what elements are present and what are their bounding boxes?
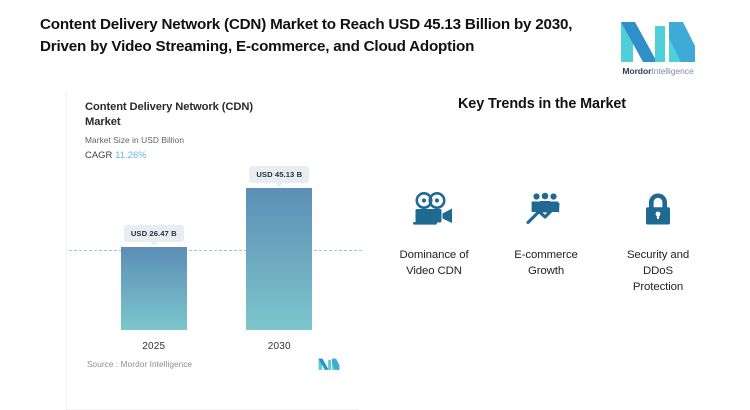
trend-label: Dominance of Video CDN: [399, 247, 468, 279]
chart-subtitle: Market Size in USD Billion: [85, 135, 348, 145]
chart-card: Content Delivery Network (CDN) Market Ma…: [66, 92, 358, 410]
trend-item-security-ddos[interactable]: Security and DDoS Protection: [602, 188, 714, 296]
trend-label: E-commerce Growth: [514, 247, 578, 279]
chart-source: Source : Mordor Intelligence: [87, 360, 192, 369]
page-header: Content Delivery Network (CDN) Market to…: [0, 0, 750, 92]
trend-label: Security and DDoS Protection: [627, 247, 689, 296]
bar-chart-plot: USD 26.47 B USD 45.13 B 2025 2030: [85, 174, 348, 352]
x-axis-tick-2025: 2025: [117, 341, 191, 352]
brand-logo: MordorIntelligence: [610, 14, 706, 76]
bar-series: USD 26.47 B USD 45.13 B: [85, 174, 348, 330]
chart-title: Content Delivery Network (CDN) Market: [85, 100, 265, 130]
page-content: Content Delivery Network (CDN) Market Ma…: [0, 92, 750, 410]
bar-group-2025[interactable]: USD 26.47 B: [117, 225, 191, 330]
bar-value-label: USD 45.13 B: [249, 166, 309, 183]
bar-group-2030[interactable]: USD 45.13 B: [242, 166, 316, 330]
people-growth-chart-icon: [525, 188, 567, 230]
chart-footer: Source : Mordor Intelligence: [85, 358, 348, 378]
padlock-icon: [641, 188, 675, 230]
bar-2030[interactable]: [246, 188, 312, 330]
brand-wordmark: MordorIntelligence: [622, 66, 693, 76]
page-title: Content Delivery Network (CDN) Market to…: [40, 14, 610, 57]
mordor-intelligence-mark-icon: [318, 358, 340, 370]
brand-name-bold: Mordor: [622, 66, 651, 76]
brand-name-light: Intelligence: [651, 66, 693, 76]
cagr-value: 11.26%: [115, 149, 146, 160]
key-trends-panel: Key Trends in the Market Dominance of Vi…: [358, 92, 732, 410]
x-axis-tick-2030: 2030: [242, 341, 316, 352]
bar-value-label: USD 26.47 B: [124, 225, 184, 242]
x-axis-labels: 2025 2030: [85, 341, 348, 352]
video-camera-icon: [413, 188, 455, 230]
trend-item-video-cdn[interactable]: Dominance of Video CDN: [378, 188, 490, 296]
mordor-intelligence-logo-icon: [619, 20, 697, 62]
chart-cagr: CAGR11.26%: [85, 149, 348, 160]
key-trends-list: Dominance of Video CDN E-commerce: [376, 188, 732, 296]
trend-item-ecommerce-growth[interactable]: E-commerce Growth: [490, 188, 602, 296]
cagr-label: CAGR: [85, 149, 112, 160]
key-trends-title: Key Trends in the Market: [376, 96, 732, 112]
bar-2025[interactable]: [121, 247, 187, 330]
